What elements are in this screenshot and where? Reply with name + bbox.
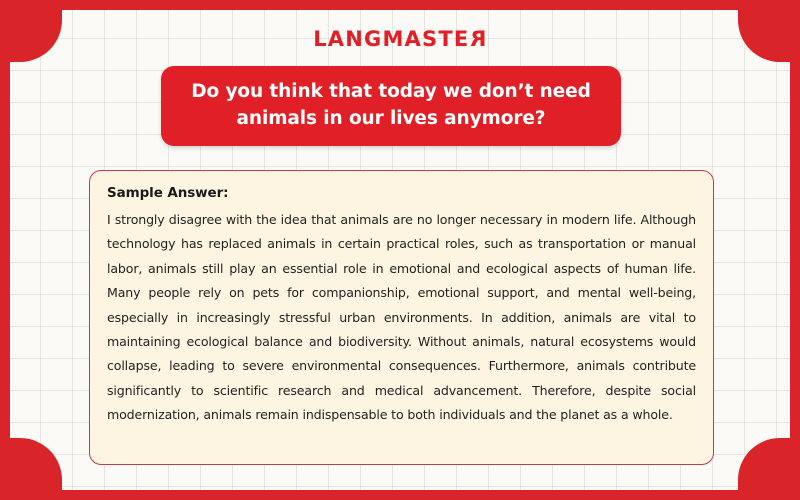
logo-text-reversed-r: R — [469, 29, 486, 50]
langmaster-logo: LANGMASTER — [0, 29, 800, 50]
question-text: Do you think that today we don’t need an… — [183, 79, 599, 133]
sample-answer-text: I strongly disagree with the idea that a… — [107, 208, 696, 428]
sample-answer-card: Sample Answer: I strongly disagree with … — [89, 170, 714, 465]
logo-text-main: LANGMASTE — [313, 27, 469, 51]
sample-answer-heading: Sample Answer: — [107, 185, 696, 201]
question-banner: Do you think that today we don’t need an… — [161, 66, 621, 146]
poster-page: LANGMASTER Do you think that today we do… — [0, 0, 800, 500]
